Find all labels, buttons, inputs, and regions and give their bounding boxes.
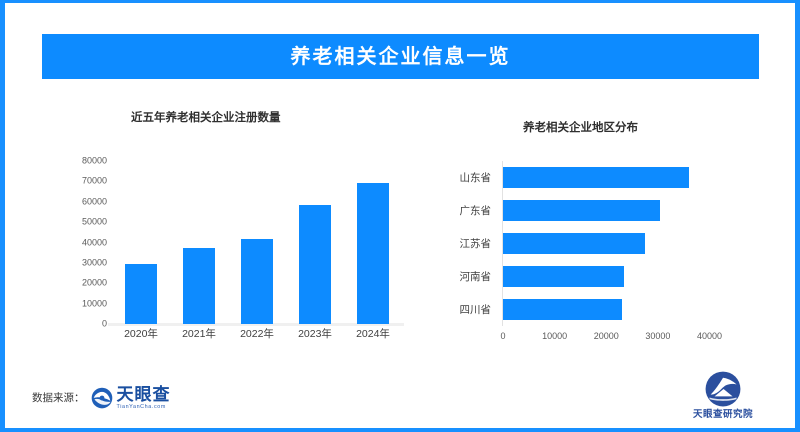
tianyancha-eye-icon xyxy=(91,387,113,409)
left-chart-plot-area xyxy=(112,161,402,324)
bar-column xyxy=(183,161,215,324)
y-axis-category-label: 四川省 xyxy=(460,304,492,315)
bar-column xyxy=(241,161,273,324)
bar xyxy=(503,167,689,188)
bar xyxy=(503,299,622,320)
left-chart-title: 近五年养老相关企业注册数量 xyxy=(131,113,281,125)
bar xyxy=(299,205,331,324)
tianyancha-domain: TianYanCha.com xyxy=(117,405,171,410)
bar-row xyxy=(503,299,725,320)
right-chart-plot-area xyxy=(503,161,725,326)
region-distribution-chart: 养老相关企业地区分布 山东省广东省江苏省河南省四川省 0100002000030… xyxy=(435,99,765,354)
x-axis-category-label: 2021年 xyxy=(182,329,216,340)
bar xyxy=(241,239,273,324)
tianyancha-name: 天眼查 xyxy=(117,386,171,403)
bar-row xyxy=(503,233,725,254)
y-axis-tick-label: 70000 xyxy=(82,177,107,186)
x-axis-category-label: 2024年 xyxy=(356,329,390,340)
y-axis-tick-label: 80000 xyxy=(82,157,107,166)
x-axis-tick-label: 10000 xyxy=(542,332,567,341)
infographic-poster: 养老相关企业信息一览 近五年养老相关企业注册数量 010000200003000… xyxy=(0,0,800,432)
y-axis-category-label: 江苏省 xyxy=(460,238,492,249)
institute-emblem-icon xyxy=(705,371,741,407)
bar-column xyxy=(357,161,389,324)
bar xyxy=(503,266,624,287)
institute-name: 天眼查研究院 xyxy=(693,410,753,420)
bar-row xyxy=(503,200,725,221)
bar xyxy=(183,248,215,324)
registration-count-chart: 近五年养老相关企业注册数量 01000020000300004000050000… xyxy=(65,99,415,354)
x-axis-category-label: 2023年 xyxy=(298,329,332,340)
x-axis-tick-label: 30000 xyxy=(645,332,670,341)
left-chart-x-axis: 2020年2021年2022年2023年2024年 xyxy=(112,329,402,347)
bar-column xyxy=(299,161,331,324)
bar xyxy=(125,264,157,324)
y-axis-tick-label: 40000 xyxy=(82,238,107,247)
y-axis-tick-label: 60000 xyxy=(82,197,107,206)
y-axis-tick-label: 30000 xyxy=(82,258,107,267)
x-axis-tick-label: 40000 xyxy=(697,332,722,341)
source-attribution: 数据来源： 天眼查 TianYanCha.com xyxy=(32,386,171,410)
x-axis-tick-label: 0 xyxy=(500,332,505,341)
tianyancha-logo: 天眼查 TianYanCha.com xyxy=(91,386,171,410)
bar xyxy=(357,183,389,324)
bar-row xyxy=(503,266,725,287)
y-axis-tick-label: 10000 xyxy=(82,299,107,308)
x-axis-category-label: 2022年 xyxy=(240,329,274,340)
y-axis-tick-label: 50000 xyxy=(82,218,107,227)
right-chart-title: 养老相关企业地区分布 xyxy=(523,123,638,135)
bar xyxy=(503,200,660,221)
y-axis-category-label: 河南省 xyxy=(460,271,492,282)
x-axis-tick-label: 20000 xyxy=(594,332,619,341)
bar-row xyxy=(503,167,725,188)
right-chart-x-axis: 010000200003000040000 xyxy=(503,332,725,348)
right-chart-y-axis: 山东省广东省江苏省河南省四川省 xyxy=(435,161,497,326)
y-axis-category-label: 山东省 xyxy=(460,172,492,183)
title-banner: 养老相关企业信息一览 xyxy=(42,34,759,79)
y-axis-category-label: 广东省 xyxy=(460,205,492,216)
page-title: 养老相关企业信息一览 xyxy=(291,47,511,67)
bar xyxy=(503,233,645,254)
source-label: 数据来源： xyxy=(32,393,85,404)
institute-logo: 天眼查研究院 xyxy=(677,371,769,420)
bar-column xyxy=(125,161,157,324)
y-axis-tick-label: 0 xyxy=(102,320,107,329)
tianyancha-wordmark: 天眼查 TianYanCha.com xyxy=(117,386,171,410)
left-chart-y-axis: 0100002000030000400005000060000700008000… xyxy=(65,161,109,324)
x-axis-category-label: 2020年 xyxy=(124,329,158,340)
y-axis-tick-label: 20000 xyxy=(82,279,107,288)
